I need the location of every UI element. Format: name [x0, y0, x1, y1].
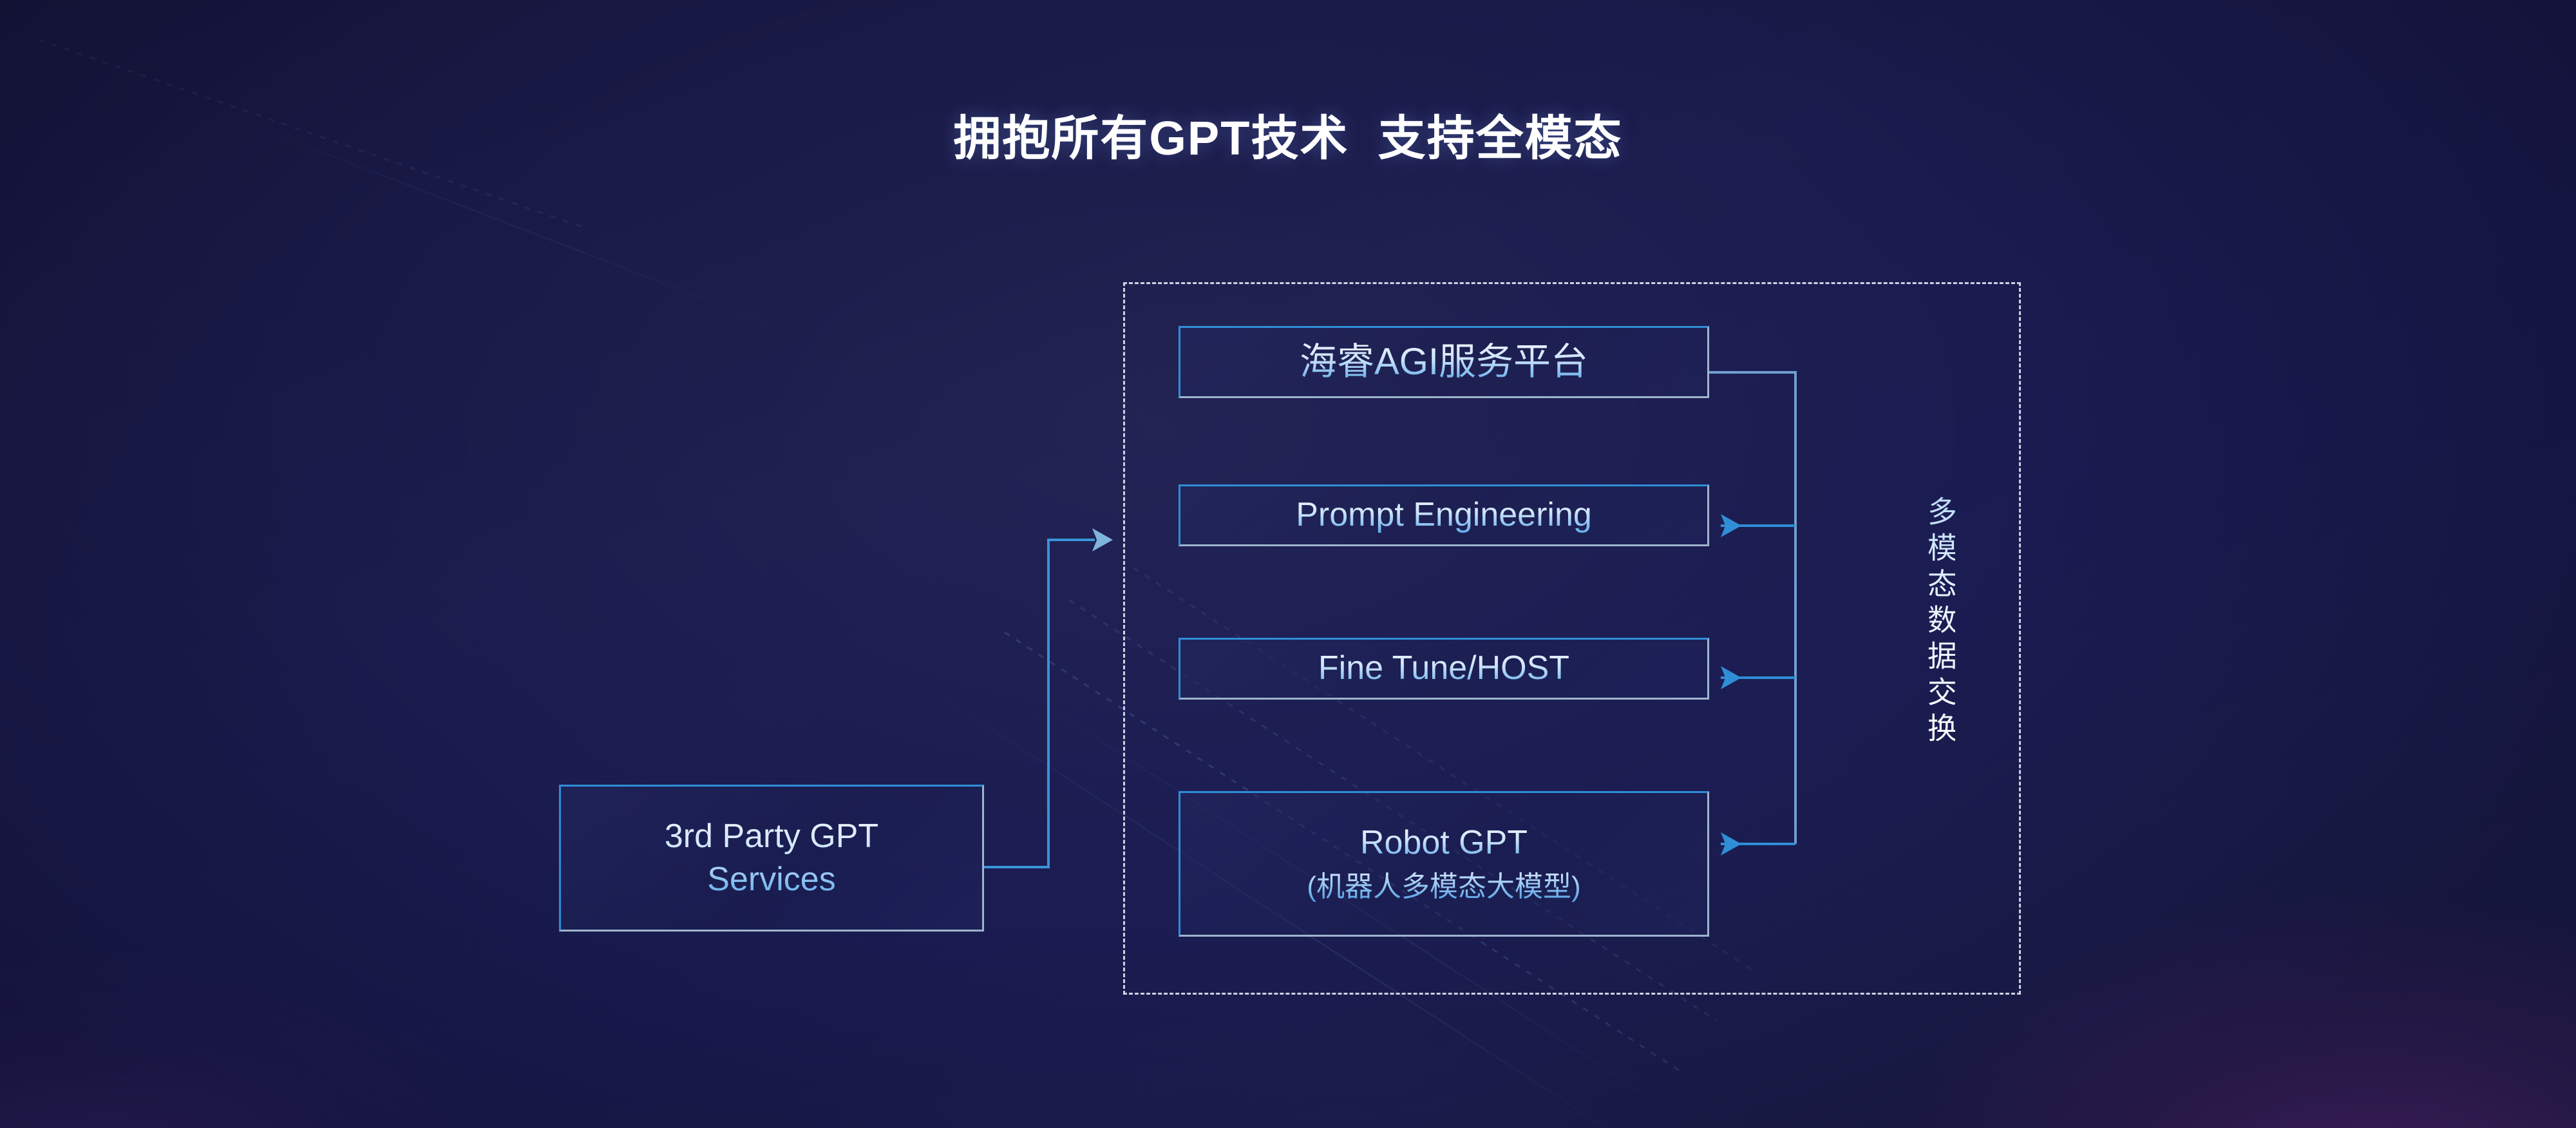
node-robot-gpt[interactable]: Robot GPT (机器人多模态大模型)	[1179, 791, 1709, 937]
node-third-party-gpt-services[interactable]: 3rd Party GPT Services	[559, 785, 984, 932]
node-fine-tune-host[interactable]: Fine Tune/HOST	[1179, 638, 1709, 700]
node-robot-gpt-label: Robot GPT	[1360, 825, 1528, 861]
node-prompt-engineering-label: Prompt Engineering	[1296, 497, 1592, 533]
slide-canvas: 拥抱所有GPT技术 支持全模态 海睿AGI服务平台 Prompt Enginee…	[0, 0, 2576, 1128]
node-fine-tune-host-label: Fine Tune/HOST	[1318, 650, 1569, 687]
node-agi-platform[interactable]: 海睿AGI服务平台	[1179, 326, 1709, 398]
side-label-multimodal-data-exchange: 多模态数据交换	[1914, 496, 1955, 749]
node-third-party-gpt-services-label: 3rd Party GPT Services	[665, 815, 878, 901]
page-title: 拥抱所有GPT技术 支持全模态	[0, 115, 2576, 162]
node-agi-platform-label: 海睿AGI服务平台	[1300, 341, 1588, 383]
node-robot-gpt-sublabel: (机器人多模态大模型)	[1307, 872, 1580, 903]
node-prompt-engineering[interactable]: Prompt Engineering	[1179, 484, 1709, 546]
